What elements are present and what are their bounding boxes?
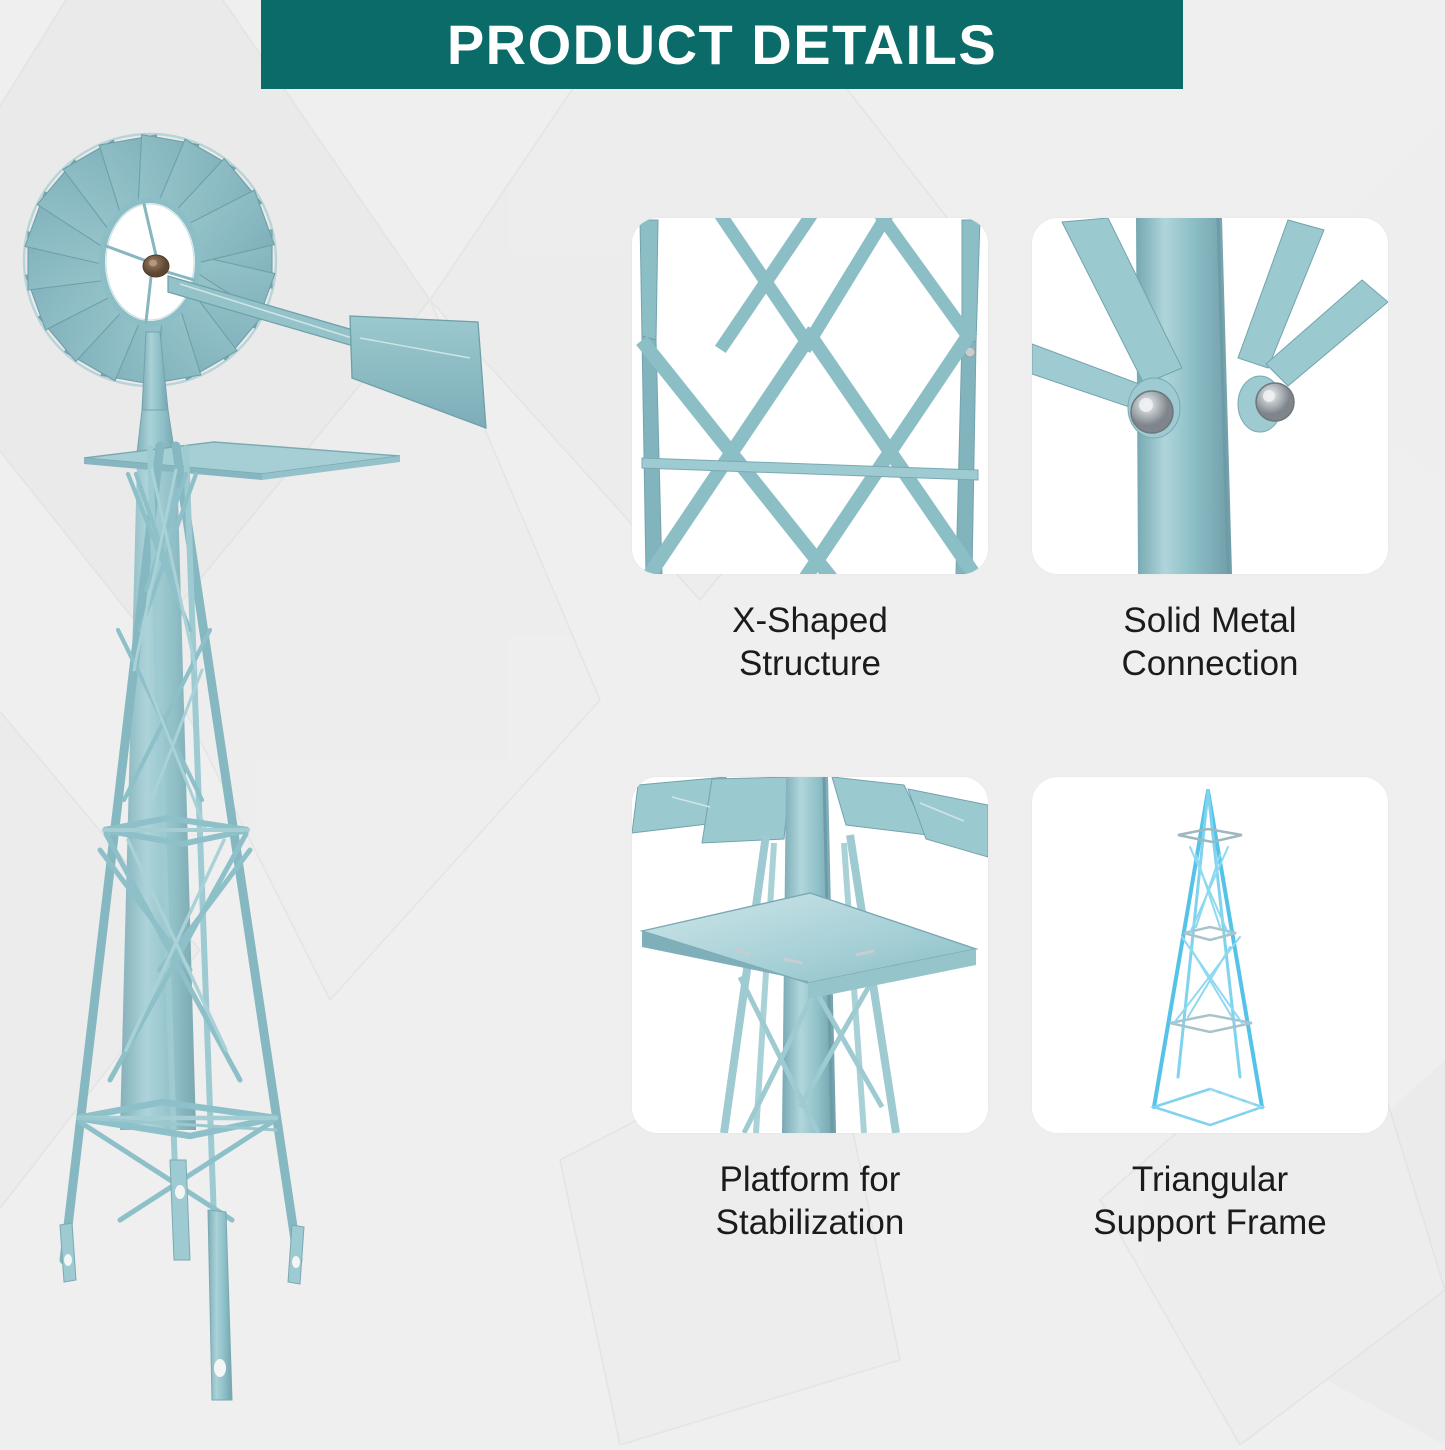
feature-card-platform-for-stabilization[interactable]: Platform for Stabilization (632, 777, 988, 1298)
platform-for-stabilization-closeup (632, 777, 988, 1133)
feature-caption-x-shaped-structure: X-Shaped Structure (732, 600, 888, 685)
feature-caption-solid-metal-connection: Solid Metal Connection (1121, 600, 1298, 685)
solid-metal-connection-svg (1032, 218, 1388, 574)
feature-grid: X-Shaped Structure (632, 218, 1412, 1298)
triangular-support-frame-diagram (1032, 777, 1388, 1133)
upper-platform (84, 442, 400, 480)
lattice-tower (60, 442, 400, 1400)
hero-product-image (0, 70, 620, 1445)
lower-ring-brace (78, 1102, 276, 1136)
triangular-support-frame-svg (1032, 777, 1388, 1133)
caption-line-2: Structure (732, 643, 888, 686)
header-banner: PRODUCT DETAILS (261, 0, 1183, 89)
feature-caption-triangular-support-frame: Triangular Support Frame (1093, 1159, 1326, 1244)
caption-line-1: X-Shaped (732, 600, 888, 643)
caption-line-1: Triangular (1093, 1159, 1326, 1202)
feature-card-solid-metal-connection[interactable]: Solid Metal Connection (1032, 218, 1388, 739)
caption-line-1: Solid Metal (1121, 600, 1298, 643)
windmill-illustration (0, 70, 620, 1445)
solid-metal-connection-closeup (1032, 218, 1388, 574)
mid-ring-brace-1 (104, 818, 248, 844)
feature-card-triangular-support-frame[interactable]: Triangular Support Frame (1032, 777, 1388, 1298)
caption-line-1: Platform for (716, 1159, 905, 1202)
caption-line-2: Connection (1121, 643, 1298, 686)
feature-caption-platform-for-stabilization: Platform for Stabilization (716, 1159, 905, 1244)
feature-card-x-shaped-structure[interactable]: X-Shaped Structure (632, 218, 988, 739)
platform-for-stabilization-svg (632, 777, 988, 1133)
tower-feet (60, 1160, 304, 1400)
caption-line-2: Support Frame (1093, 1202, 1326, 1245)
x-shaped-structure-closeup (632, 218, 988, 574)
caption-line-2: Stabilization (716, 1202, 905, 1245)
x-shaped-structure-svg (632, 218, 988, 574)
page-title: PRODUCT DETAILS (447, 17, 997, 73)
